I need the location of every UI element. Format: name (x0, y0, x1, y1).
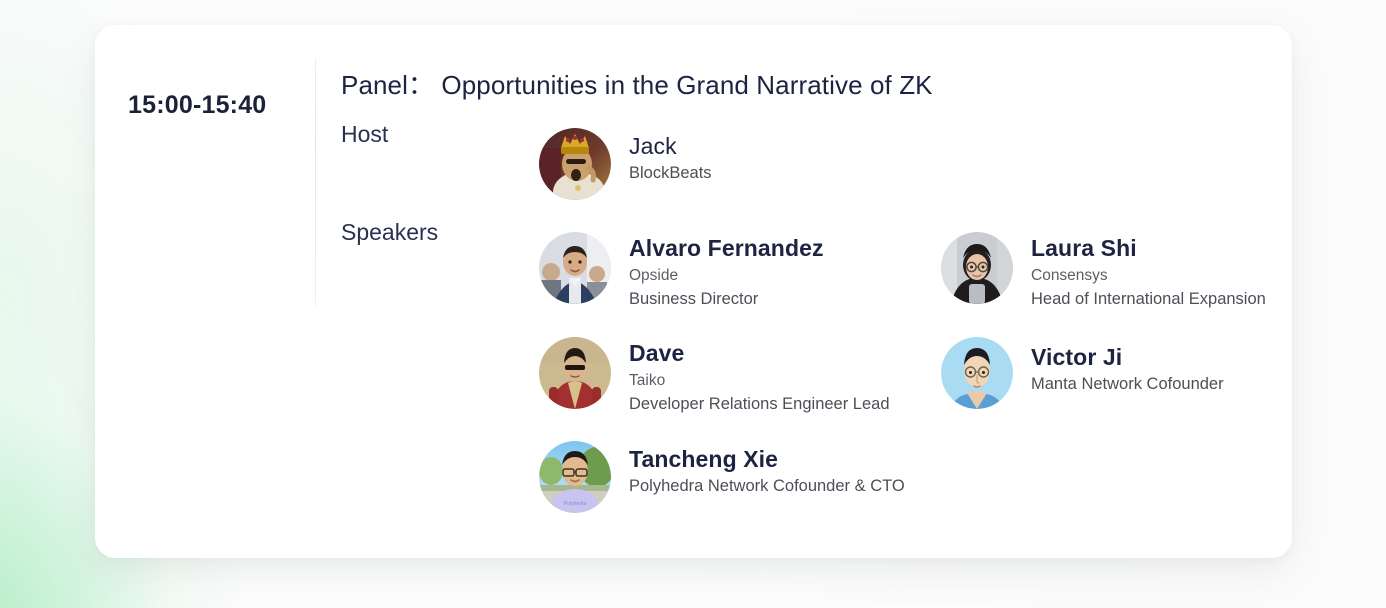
tancheng-avatar-icon: Polyhedra (539, 441, 611, 513)
alvaro-role: Business Director (629, 288, 824, 312)
laura-org: Consensys (1031, 265, 1266, 287)
tancheng-name: Tancheng Xie (629, 445, 905, 474)
tancheng-text: Tancheng Xie Polyhedra Network Cofounder… (629, 441, 905, 499)
laura-avatar-icon (941, 232, 1013, 304)
victor-org: Manta Network Cofounder (1031, 373, 1224, 397)
vertical-divider (315, 58, 316, 306)
victor-text: Victor Ji Manta Network Cofounder (1031, 337, 1224, 397)
dave-role: Developer Relations Engineer Lead (629, 393, 890, 417)
speaker-tancheng-xie[interactable]: Polyhedra Tancheng Xie Polyhedra Network… (539, 441, 905, 513)
svg-text:Polyhedra: Polyhedra (564, 501, 587, 507)
speaker-victor-ji[interactable]: Victor Ji Manta Network Cofounder (941, 337, 1224, 409)
dave-name: Dave (629, 339, 890, 368)
jack-org: BlockBeats (629, 162, 712, 186)
dave-text: Dave Taiko Developer Relations Engineer … (629, 337, 890, 417)
dave-avatar-icon (539, 337, 611, 409)
host-label: Host (341, 121, 388, 148)
jack-text: Jack BlockBeats (629, 128, 712, 186)
session-time: 15:00-15:40 (128, 91, 266, 120)
dave-org: Taiko (629, 370, 890, 392)
panel-title: Panel： Opportunities in the Grand Narrat… (341, 65, 933, 102)
alvaro-name: Alvaro Fernandez (629, 234, 824, 263)
speaker-alvaro-fernandez[interactable]: Alvaro Fernandez Opside Business Directo… (539, 232, 824, 312)
tancheng-org: Polyhedra Network Cofounder & CTO (629, 475, 905, 499)
speakers-label: Speakers (341, 219, 438, 246)
session-card: 15:00-15:40 Panel： Opportunities in the … (95, 25, 1292, 558)
jack-name: Jack (629, 132, 712, 161)
jack-avatar-icon (539, 128, 611, 200)
laura-text: Laura Shi Consensys Head of Internationa… (1031, 232, 1266, 312)
host-jack[interactable]: Jack BlockBeats (539, 128, 712, 200)
laura-role: Head of International Expansion (1031, 288, 1266, 312)
alvaro-org: Opside (629, 265, 824, 287)
session-content: Panel： Opportunities in the Grand Narrat… (341, 25, 1278, 558)
alvaro-avatar-icon (539, 232, 611, 304)
victor-name: Victor Ji (1031, 343, 1224, 372)
victor-avatar-icon (941, 337, 1013, 409)
speaker-dave[interactable]: Dave Taiko Developer Relations Engineer … (539, 337, 890, 417)
alvaro-text: Alvaro Fernandez Opside Business Directo… (629, 232, 824, 312)
speaker-laura-shi[interactable]: Laura Shi Consensys Head of Internationa… (941, 232, 1266, 312)
laura-name: Laura Shi (1031, 234, 1266, 263)
